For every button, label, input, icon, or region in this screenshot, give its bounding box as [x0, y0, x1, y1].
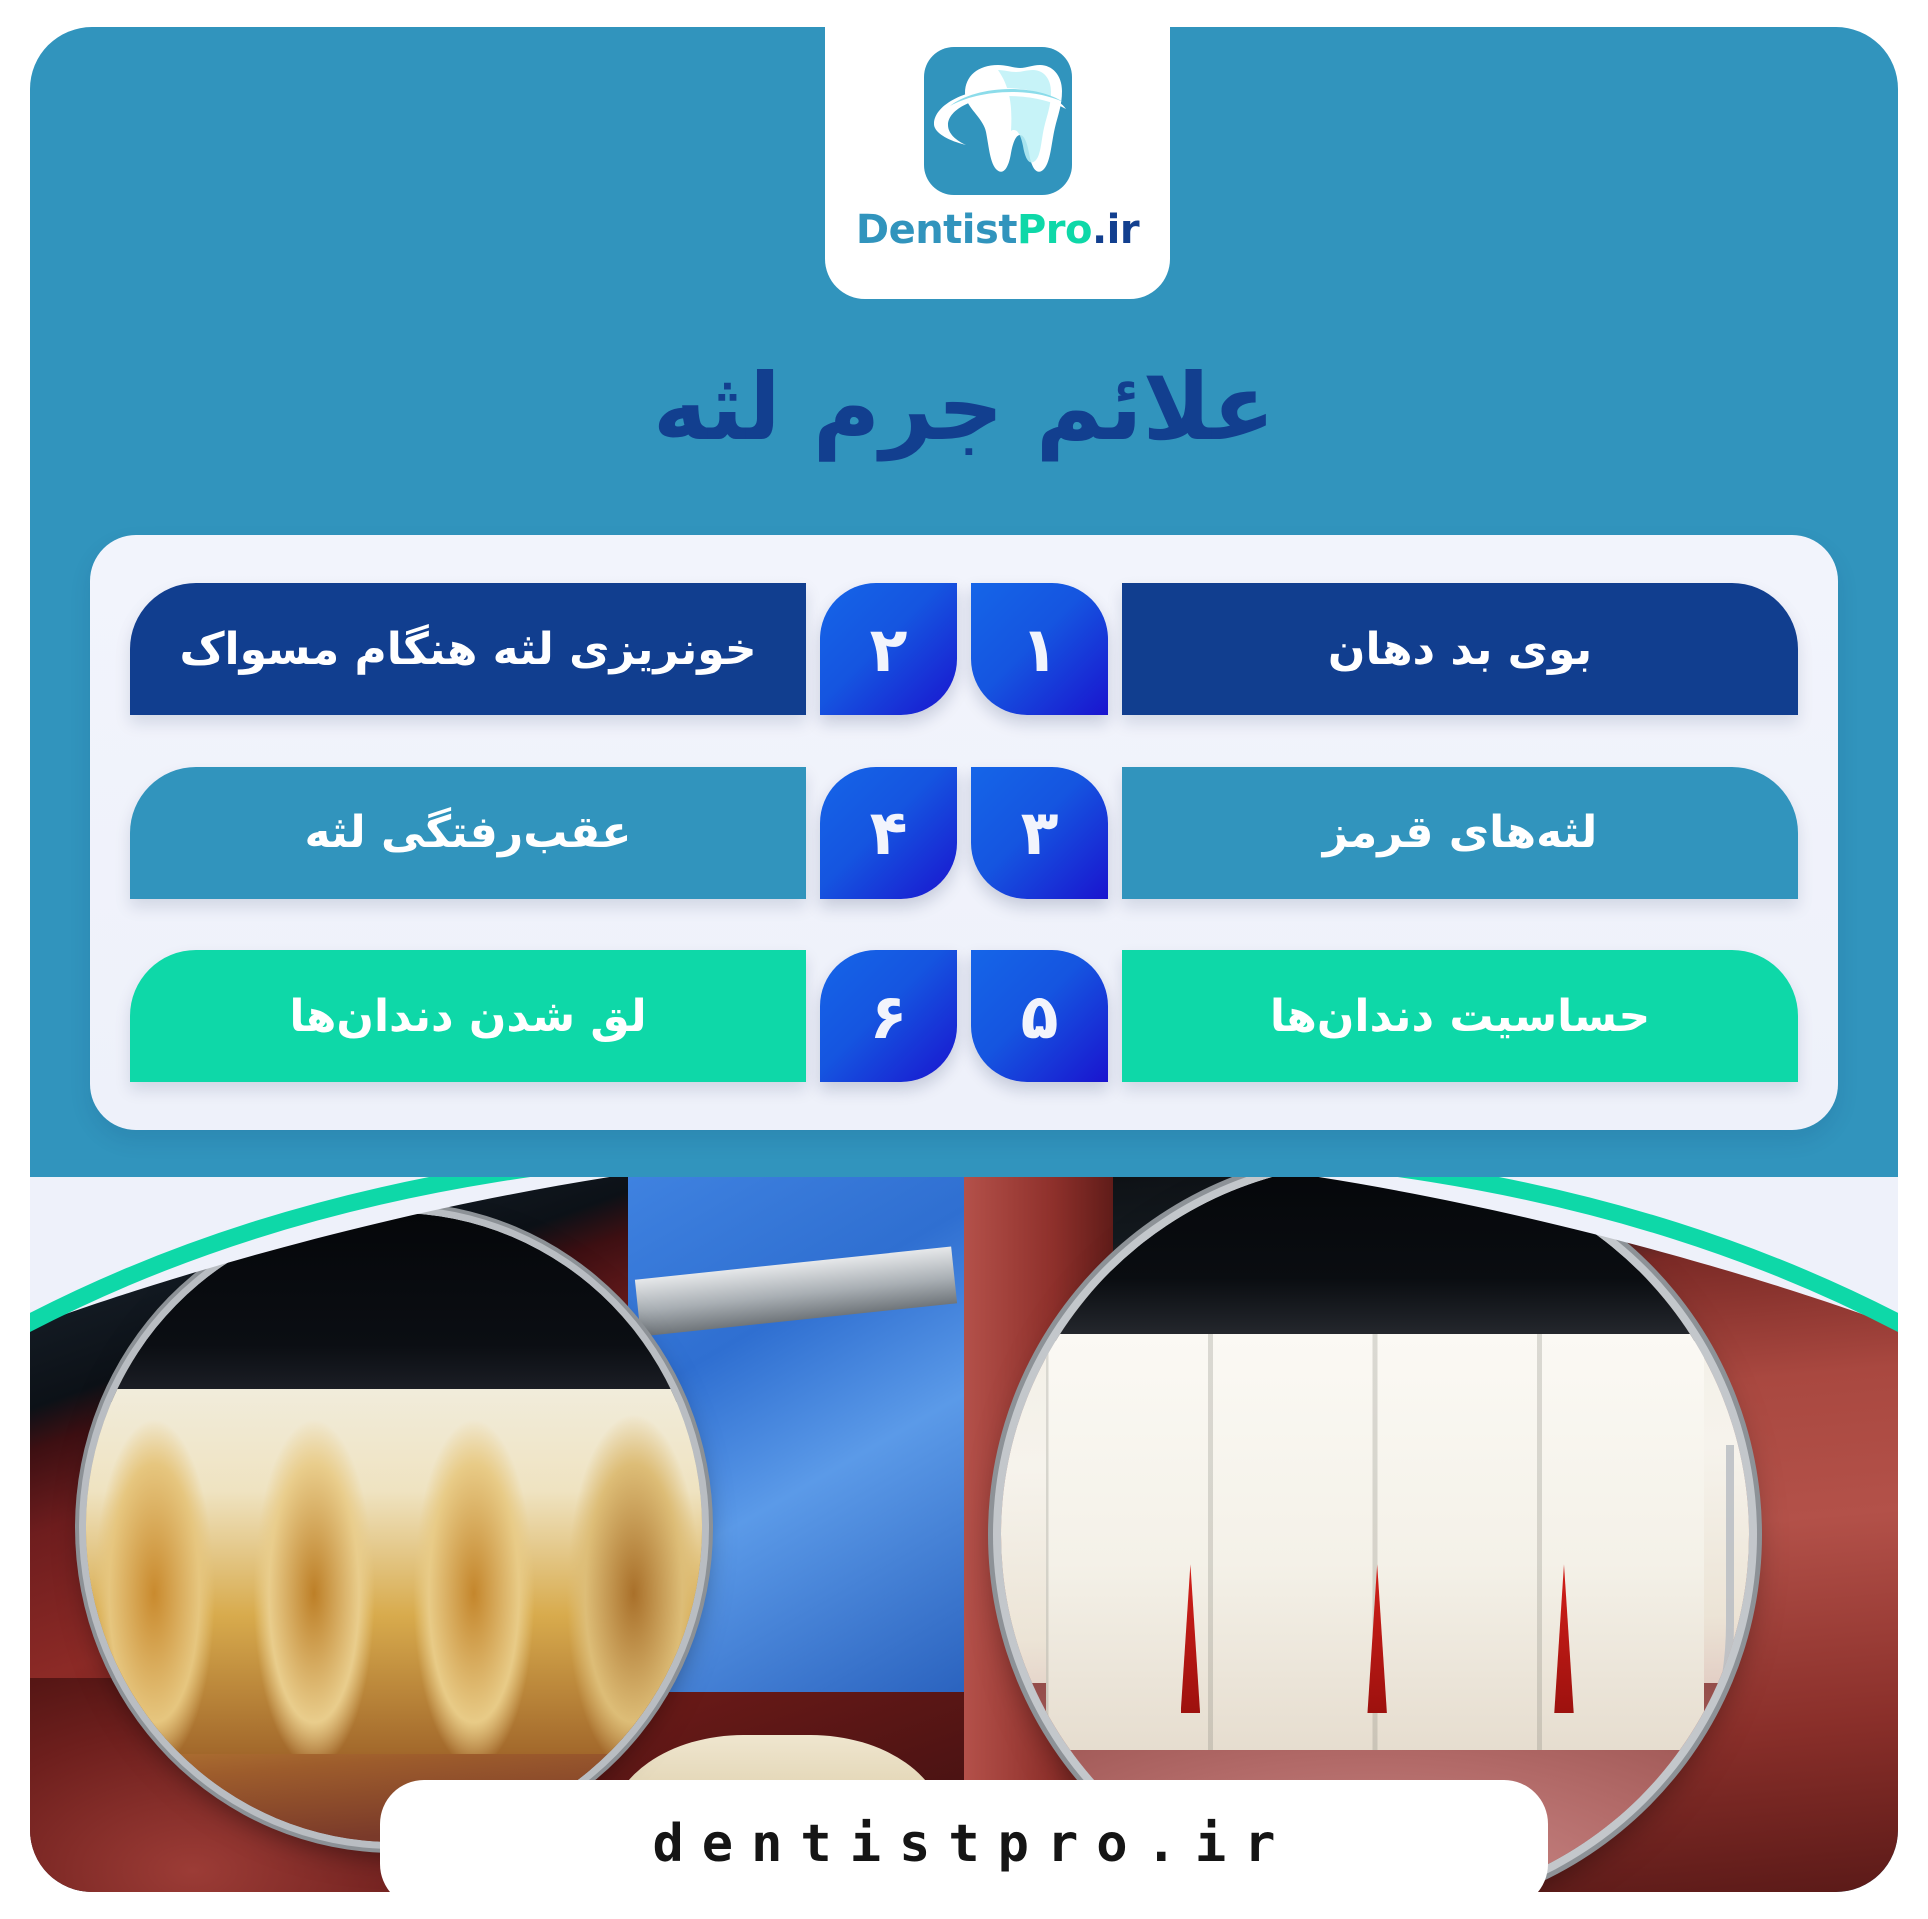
symptom-label: بوی بد دهان [1328, 624, 1592, 675]
infographic-canvas: DentistPro.ir علائم جرم لثه خونریزی لثه … [0, 0, 1928, 1919]
symptom-number-pair: ۳ ۴ [814, 767, 1114, 899]
symptom-badge-6[interactable]: ۶ [820, 950, 957, 1082]
symptom-label: لق شدن دندان‌ها [289, 991, 646, 1042]
symptom-number-pair: ۵ ۶ [814, 950, 1114, 1082]
symptom-bar-5[interactable]: حساسیت دندان‌ها [1122, 950, 1798, 1082]
symptom-row: عقب‌رفتگی لثه ۳ ۴ لثه‌های قرمز [130, 767, 1798, 899]
symptom-number: ۳ [1021, 796, 1059, 869]
symptom-label: عقب‌رفتگی لثه [305, 807, 632, 858]
footer-url-pill[interactable]: dentistpro.ir [380, 1780, 1548, 1892]
symptom-badge-4[interactable]: ۴ [820, 767, 957, 899]
symptom-number-pair: ۱ ۲ [814, 583, 1114, 715]
brand-logo-badge[interactable]: DentistPro.ir [825, 27, 1170, 299]
symptom-number: ۵ [1021, 980, 1059, 1053]
symptom-number: ۲ [870, 613, 908, 686]
clinical-photo-strip: dentistpro.ir [30, 1177, 1898, 1892]
symptom-badge-2[interactable]: ۲ [820, 583, 957, 715]
symptom-bar-3[interactable]: لثه‌های قرمز [1122, 767, 1798, 899]
symptom-label: حساسیت دندان‌ها [1270, 991, 1650, 1042]
tooth-with-orbit-icon [924, 47, 1072, 195]
symptoms-rows: خونریزی لثه هنگام مسواک ۱ ۲ بوی بد دهان [90, 535, 1838, 1130]
symptom-number: ۶ [870, 980, 908, 1053]
page-title: علائم جرم لثه [30, 357, 1898, 458]
symptom-label: لثه‌های قرمز [1323, 807, 1598, 858]
symptom-number: ۱ [1021, 613, 1059, 686]
symptom-bar-6[interactable]: لق شدن دندان‌ها [130, 950, 806, 1082]
brand-wordmark-dentist: Dentist [856, 207, 1017, 253]
symptom-bar-2[interactable]: خونریزی لثه هنگام مسواک [130, 583, 806, 715]
symptom-number: ۴ [870, 796, 908, 869]
symptoms-card: خونریزی لثه هنگام مسواک ۱ ۲ بوی بد دهان [90, 535, 1838, 1130]
symptom-row: لق شدن دندان‌ها ۵ ۶ حساسیت دندان‌ها [130, 950, 1798, 1082]
dental-mirror-reflection [86, 1213, 702, 1842]
brand-wordmark-tld: .ir [1092, 207, 1139, 253]
symptom-label: خونریزی لثه هنگام مسواک [179, 624, 756, 675]
symptom-row: خونریزی لثه هنگام مسواک ۱ ۲ بوی بد دهان [130, 583, 1798, 715]
brand-wordmark: DentistPro.ir [856, 207, 1139, 253]
symptom-bar-4[interactable]: عقب‌رفتگی لثه [130, 767, 806, 899]
footer-url: dentistpro.ir [635, 1814, 1294, 1874]
symptom-bar-1[interactable]: بوی بد دهان [1122, 583, 1798, 715]
brand-wordmark-pro: Pro [1017, 207, 1092, 253]
main-teal-panel: DentistPro.ir علائم جرم لثه خونریزی لثه … [30, 27, 1898, 1892]
symptom-badge-3[interactable]: ۳ [971, 767, 1108, 899]
symptom-badge-5[interactable]: ۵ [971, 950, 1108, 1082]
symptom-badge-1[interactable]: ۱ [971, 583, 1108, 715]
